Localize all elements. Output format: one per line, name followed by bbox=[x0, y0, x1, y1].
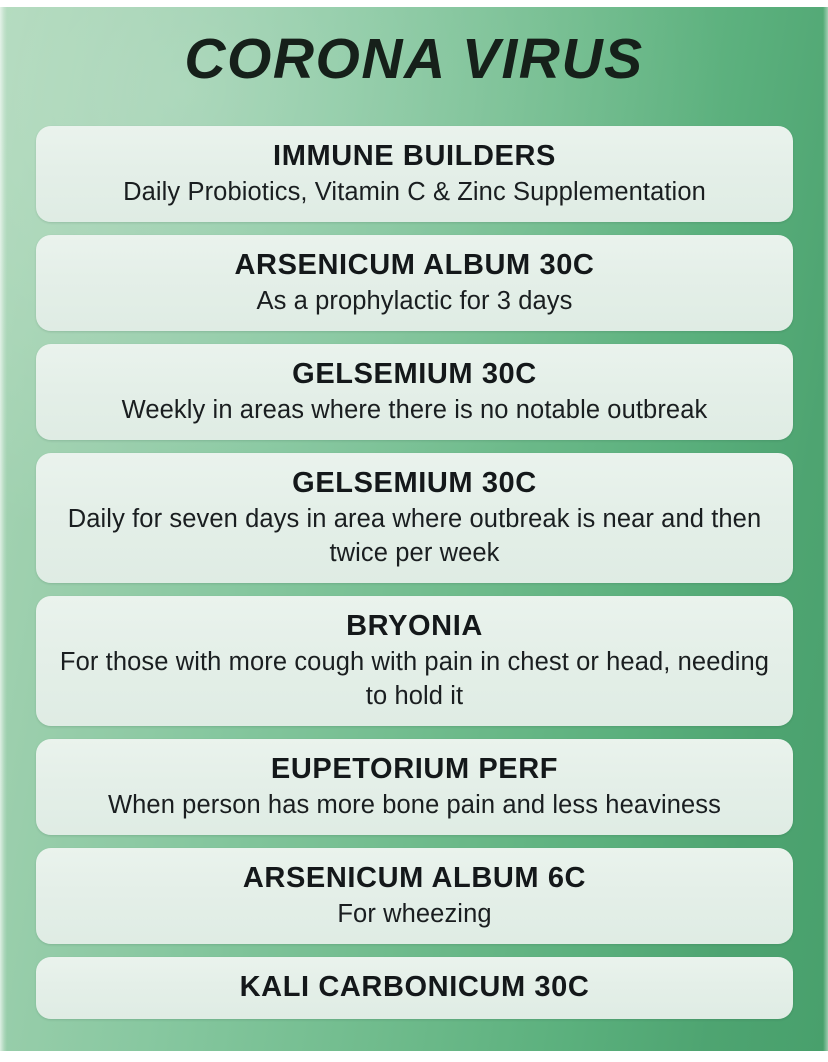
remedy-card-title: EUPETORIUM PERF bbox=[52, 750, 777, 788]
remedy-card-title: KALI CARBONICUM 30C bbox=[52, 968, 777, 1006]
remedy-card: IMMUNE BUILDERS Daily Probiotics, Vitami… bbox=[36, 126, 793, 222]
remedy-card-title: ARSENICUM ALBUM 30C bbox=[52, 246, 777, 284]
remedy-card: EUPETORIUM PERF When person has more bon… bbox=[36, 739, 793, 835]
poster-canvas: CORONA VIRUS IMMUNE BUILDERS Daily Probi… bbox=[0, 7, 828, 1051]
remedy-card-description: When person has more bone pain and less … bbox=[52, 788, 777, 822]
remedy-card-list: IMMUNE BUILDERS Daily Probiotics, Vitami… bbox=[36, 126, 793, 1019]
remedy-card-title: ARSENICUM ALBUM 6C bbox=[52, 859, 777, 897]
remedy-card: BRYONIA For those with more cough with p… bbox=[36, 596, 793, 726]
remedy-card-description: Daily Probiotics, Vitamin C & Zinc Suppl… bbox=[52, 175, 777, 209]
remedy-card: GELSEMIUM 30C Weekly in areas where ther… bbox=[36, 344, 793, 440]
remedy-card-title: IMMUNE BUILDERS bbox=[52, 137, 777, 175]
poster-title: CORONA VIRUS bbox=[0, 24, 828, 94]
remedy-card-title: GELSEMIUM 30C bbox=[52, 464, 777, 502]
top-white-band bbox=[0, 0, 828, 7]
infographic-poster: CORONA VIRUS IMMUNE BUILDERS Daily Probi… bbox=[0, 0, 828, 1062]
remedy-card-title: GELSEMIUM 30C bbox=[52, 355, 777, 393]
left-edge-sheen bbox=[0, 7, 7, 1051]
bottom-white-band bbox=[0, 1051, 828, 1062]
remedy-card: KALI CARBONICUM 30C bbox=[36, 957, 793, 1019]
remedy-card-description: As a prophylactic for 3 days bbox=[52, 284, 777, 318]
remedy-card-description: Daily for seven days in area where outbr… bbox=[52, 502, 777, 570]
remedy-card-title: BRYONIA bbox=[52, 607, 777, 645]
right-edge-sheen bbox=[823, 7, 828, 1051]
remedy-card: GELSEMIUM 30C Daily for seven days in ar… bbox=[36, 453, 793, 583]
remedy-card-description: Weekly in areas where there is no notabl… bbox=[52, 393, 777, 427]
remedy-card-description: For wheezing bbox=[52, 897, 777, 931]
remedy-card: ARSENICUM ALBUM 30C As a prophylactic fo… bbox=[36, 235, 793, 331]
remedy-card: ARSENICUM ALBUM 6C For wheezing bbox=[36, 848, 793, 944]
remedy-card-description: For those with more cough with pain in c… bbox=[52, 645, 777, 713]
